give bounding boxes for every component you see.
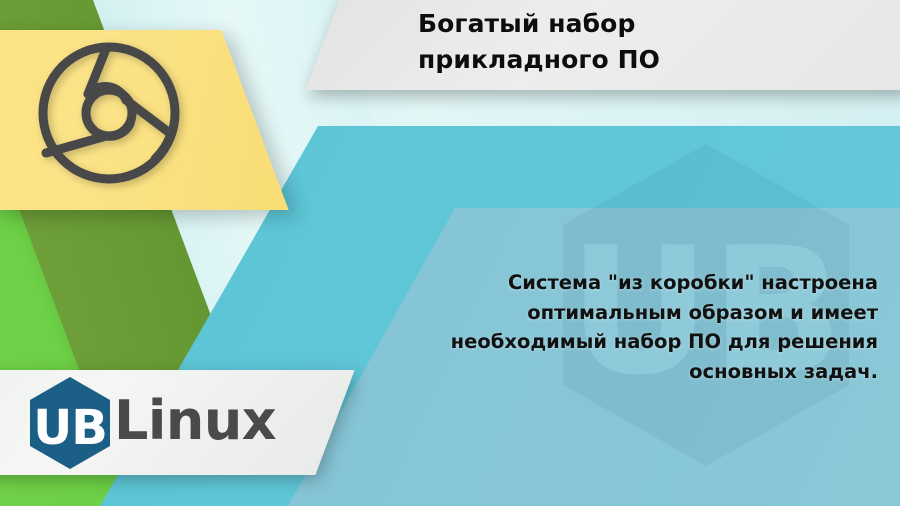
page-title-line-1: Богатый набор: [418, 6, 888, 42]
body-paragraph: Система "из коробки" настроена оптимальн…: [318, 268, 878, 387]
page-title: Богатый набор прикладного ПО: [418, 6, 888, 77]
body-line-4: основных задач.: [318, 357, 878, 387]
body-line-3: необходимый набор ПО для решения: [318, 327, 878, 357]
svg-text:UB: UB: [33, 400, 107, 456]
brand-logo: UB Linux: [28, 378, 276, 468]
body-line-2: оптимальным образом и имеет: [318, 298, 878, 328]
page-title-line-2: прикладного ПО: [418, 42, 888, 78]
body-line-1: Система "из коробки" настроена: [318, 268, 878, 298]
hexagon-ub-icon: UB: [28, 376, 112, 470]
brand-logo-word: Linux: [114, 394, 276, 452]
presentation-slide: UB Богатый набор прикладного ПО Система …: [0, 0, 900, 506]
browser-aperture-icon: [34, 38, 184, 188]
